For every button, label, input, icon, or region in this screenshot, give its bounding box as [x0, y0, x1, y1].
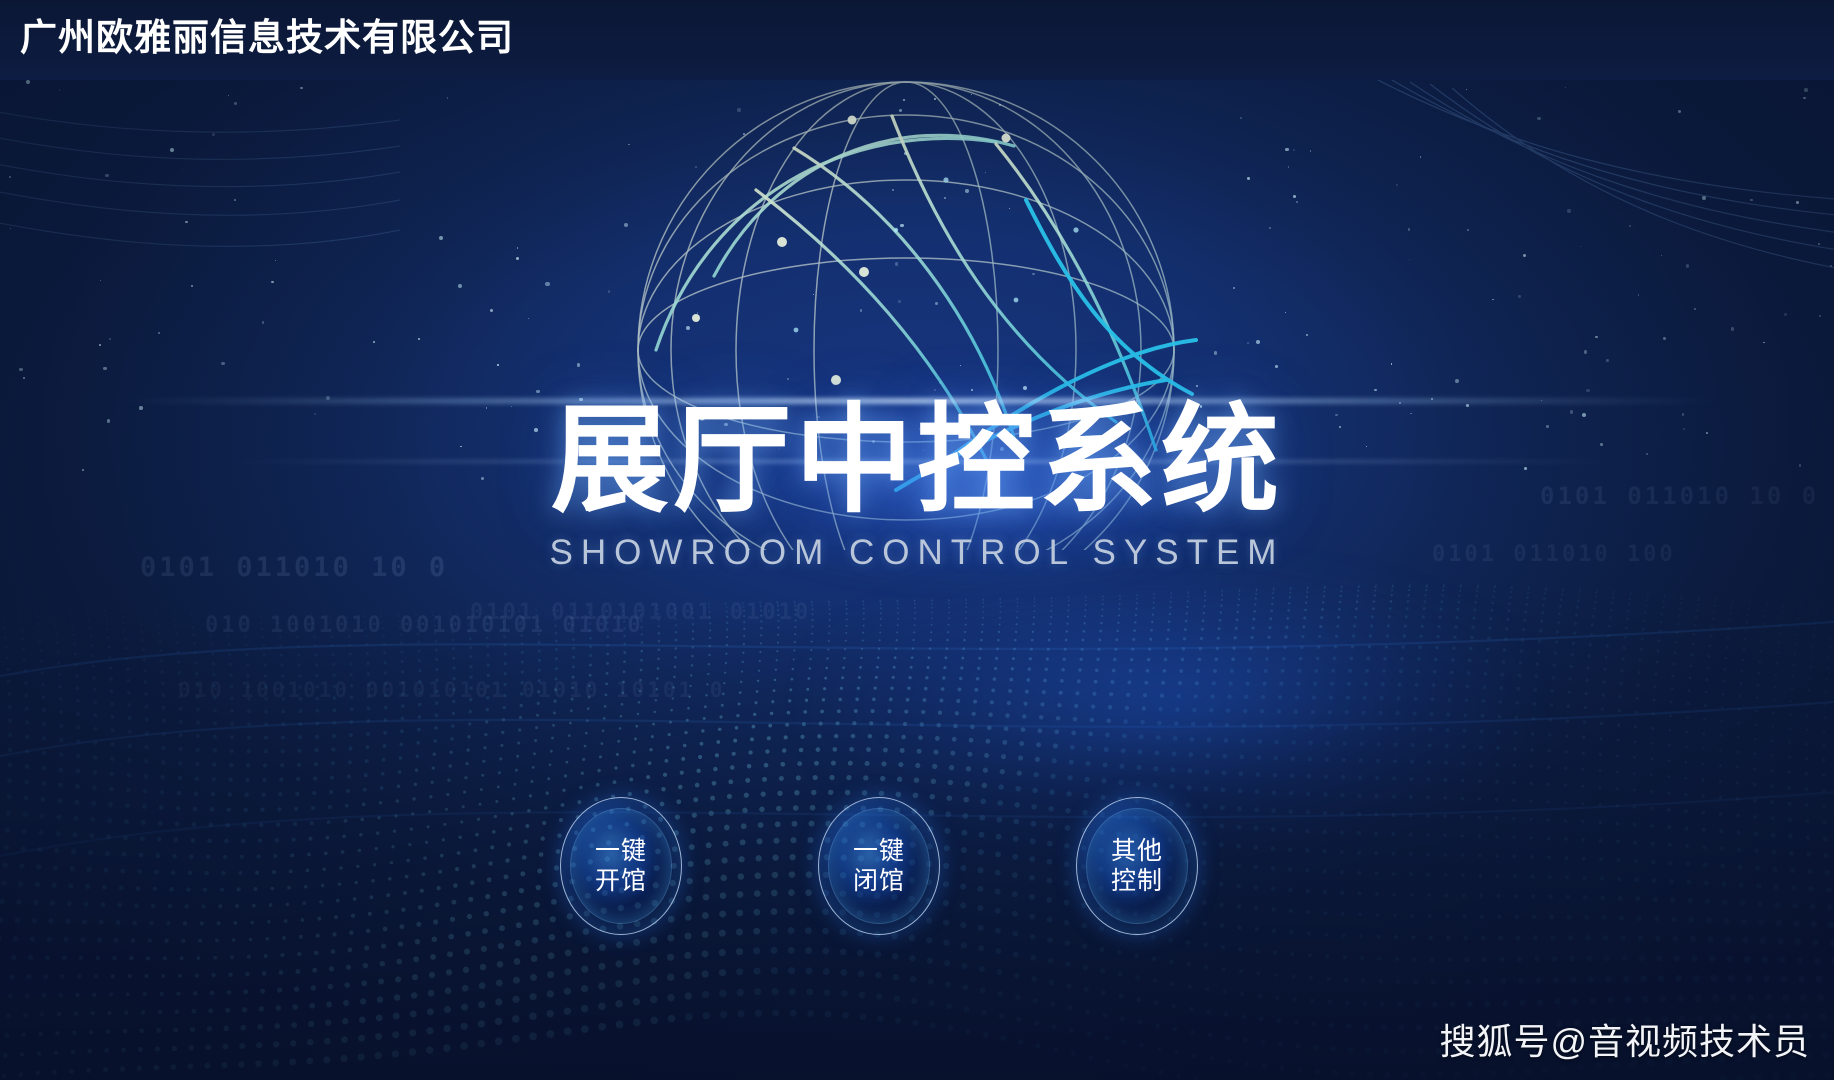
- page-subtitle: SHOWROOM CONTROL SYSTEM: [0, 534, 1834, 572]
- hero-stage: 0101 011010 10 0 010 1001010 001010101 0…: [0, 80, 1834, 1080]
- binary-overlay-text: 010 1001010 001010101 01010: [205, 613, 644, 638]
- watermark-text: 搜狐号@音视频技术员: [1439, 1020, 1810, 1064]
- one-click-open-button[interactable]: 一键 开馆: [560, 797, 682, 935]
- company-name-title: 广州欧雅丽信息技术有限公司: [20, 14, 514, 62]
- wave-glow-decoration: [820, 580, 1520, 830]
- showroom-control-system-app: 广州欧雅丽信息技术有限公司: [0, 0, 1834, 1080]
- one-click-close-button-label: 一键 闭馆: [853, 836, 905, 896]
- header-bar: 广州欧雅丽信息技术有限公司: [0, 0, 1834, 80]
- title-block: 展厅中控系统 SHOWROOM CONTROL SYSTEM: [0, 402, 1834, 572]
- control-buttons-group: 一键 开馆 一键 闭馆 其他 控制: [560, 797, 1280, 947]
- other-control-button[interactable]: 其他 控制: [1076, 797, 1198, 935]
- one-click-open-button-label: 一键 开馆: [595, 836, 647, 896]
- other-control-button-label: 其他 控制: [1111, 836, 1163, 896]
- page-title: 展厅中控系统: [0, 402, 1834, 520]
- binary-overlay-text: 0101 0110101001 01010: [470, 600, 811, 625]
- binary-overlay-text: 010 1001010 001010101 01010 10101 0: [178, 678, 726, 702]
- arc-lines-right-icon: [1314, 80, 1834, 400]
- one-click-close-button[interactable]: 一键 闭馆: [818, 797, 940, 935]
- arc-lines-left-icon: [0, 80, 400, 360]
